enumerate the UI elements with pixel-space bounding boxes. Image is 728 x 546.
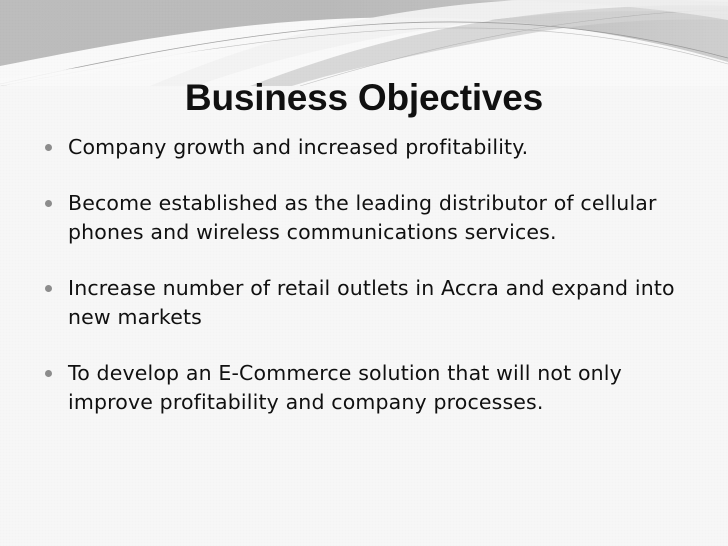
wave-ribbon-upper	[150, 0, 728, 86]
presentation-slide: Business Objectives Company growth and i…	[0, 0, 728, 546]
header-gray-field	[0, 0, 728, 86]
bullet-dot-icon	[45, 144, 52, 151]
list-item-text: Increase number of retail outlets in Acc…	[68, 274, 692, 333]
list-item-text: To develop an E-Commerce solution that w…	[68, 359, 692, 418]
list-item: Company growth and increased profitabili…	[42, 133, 692, 163]
wave-sliver-top-right	[470, 0, 728, 20]
bullet-dot-icon	[45, 200, 52, 207]
decorative-wave-header	[0, 0, 728, 86]
wave-ribbon-gray	[250, 5, 728, 86]
wave-hairline-main	[0, 22, 728, 84]
bullet-list: Company growth and increased profitabili…	[42, 133, 692, 418]
list-item: Increase number of retail outlets in Acc…	[42, 274, 692, 333]
list-item: Become established as the leading distri…	[42, 189, 692, 248]
page-title: Business Objectives	[0, 76, 728, 120]
list-item: To develop an E-Commerce solution that w…	[42, 359, 692, 418]
list-item-text: Company growth and increased profitabili…	[68, 133, 692, 163]
bullet-dot-icon	[45, 285, 52, 292]
bullet-dot-icon	[45, 370, 52, 377]
list-item-text: Become established as the leading distri…	[68, 189, 692, 248]
wave-hairline-upper	[300, 10, 728, 86]
